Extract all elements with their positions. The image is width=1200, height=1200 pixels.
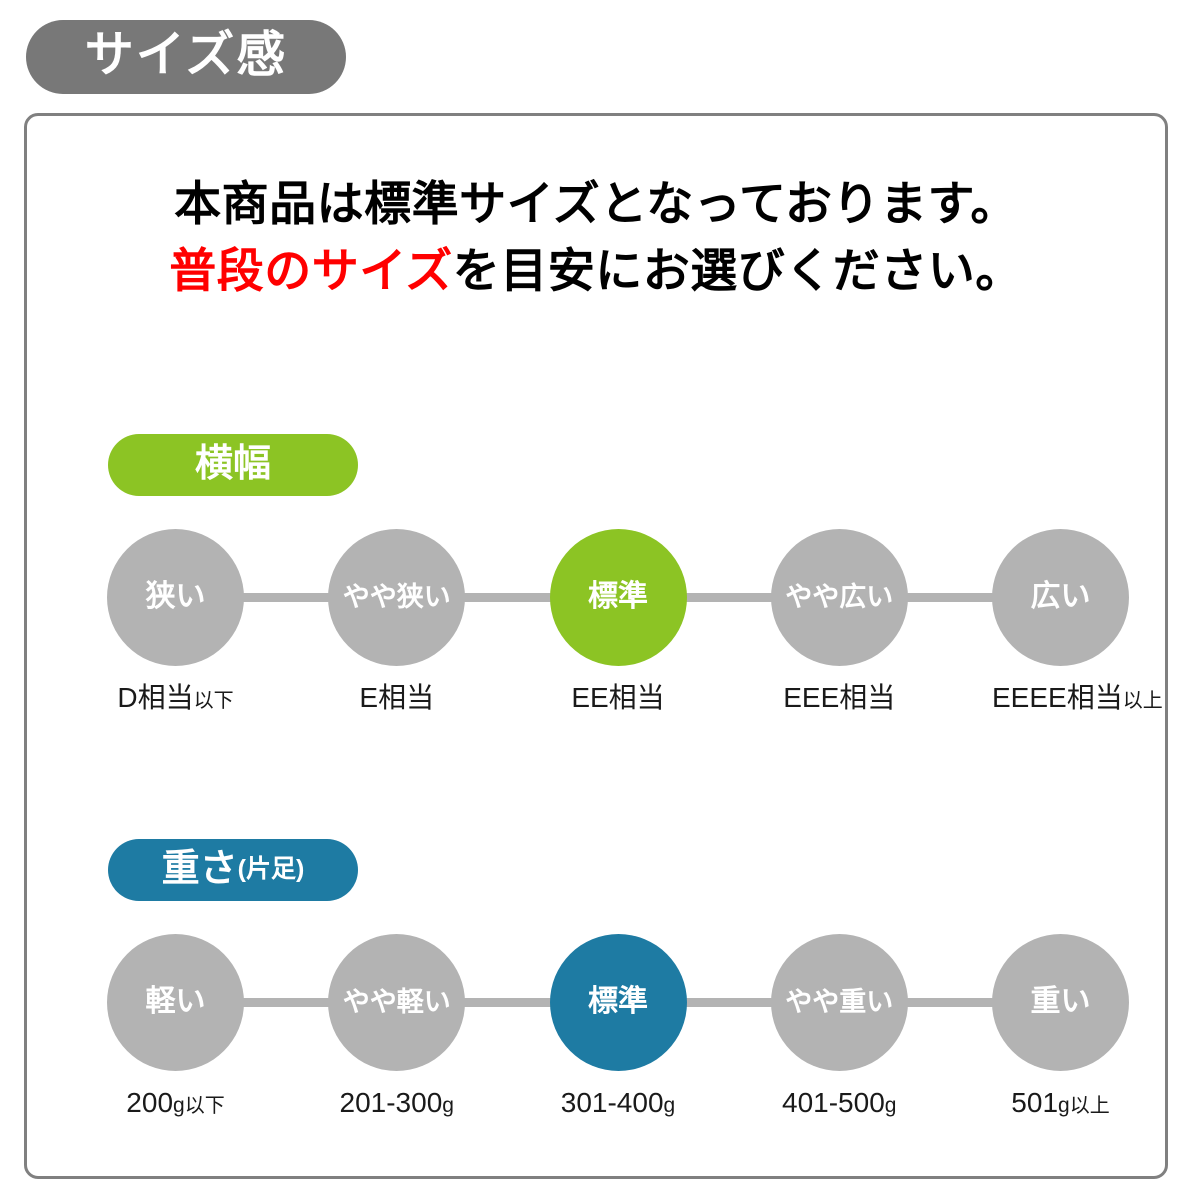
caption-width-0-sub: 以下 <box>194 690 234 712</box>
caption-weight-4-main: 501 <box>1011 1087 1058 1118</box>
scale-node-weight-2-label: 標準 <box>588 987 648 1017</box>
caption-weight-0: 200g以下 <box>107 1089 244 1117</box>
caption-weight-1: 201-300g <box>328 1089 465 1117</box>
scale-node-weight-4[interactable]: 重い <box>992 934 1129 1071</box>
caption-weight-2: 301-400g <box>550 1089 687 1117</box>
scale-node-weight-2[interactable]: 標準 <box>550 934 687 1071</box>
headline-block: 本商品は標準サイズとなっております。 普段のサイズを目安にお選びください。 <box>27 171 1165 304</box>
caption-weight-0-sub: 以下 <box>185 1095 225 1117</box>
section-pill-weight: 重さ(片足) <box>108 839 358 901</box>
scale-node-weight-0[interactable]: 軽い <box>107 934 244 1071</box>
caption-width-2-main: EE相当 <box>571 682 664 713</box>
caption-width-3-main: EEE相当 <box>783 682 895 713</box>
caption-width-4-sub: 以上 <box>1123 690 1163 712</box>
content-card: 本商品は標準サイズとなっております。 普段のサイズを目安にお選びください。 横幅… <box>24 113 1168 1179</box>
scale-node-width-0[interactable]: 狭い <box>107 529 244 666</box>
scale-node-width-3[interactable]: やや広い <box>771 529 908 666</box>
caption-width-1: E相当 <box>328 684 465 712</box>
scale-node-weight-0-label: 軽い <box>146 987 206 1017</box>
scale-weight: 軽い やや軽い 標準 やや重い 重い <box>107 932 1129 1072</box>
headline-line-1: 本商品は標準サイズとなっております。 <box>27 171 1165 238</box>
scale-node-width-3-label: やや広い <box>785 584 893 611</box>
caption-width-3: EEE相当 <box>771 684 908 712</box>
scale-node-width-2[interactable]: 標準 <box>550 529 687 666</box>
headline-rest: を目安にお選びください。 <box>453 244 1023 297</box>
caption-weight-1-main: 201-300 <box>340 1087 443 1118</box>
scale-node-weight-1[interactable]: やや軽い <box>328 934 465 1071</box>
caption-weight-4-unit: g <box>1058 1094 1070 1117</box>
sizing-infographic: サイズ感 本商品は標準サイズとなっております。 普段のサイズを目安にお選びくださ… <box>0 0 1200 1200</box>
headline-line-2: 普段のサイズを目安にお選びください。 <box>27 238 1165 305</box>
caption-weight-2-unit: g <box>664 1094 676 1117</box>
scale-node-width-2-label: 標準 <box>588 582 648 612</box>
caption-width-4-main: EEEE相当 <box>992 682 1123 713</box>
scale-node-width-1[interactable]: やや狭い <box>328 529 465 666</box>
headline-highlight: 普段のサイズ <box>169 244 453 297</box>
caption-width-1-main: E相当 <box>359 682 434 713</box>
header-badge-label: サイズ感 <box>85 31 288 83</box>
scale-node-width-1-label: やや狭い <box>343 584 451 611</box>
captions-width: D相当以下 E相当 EE相当 EEE相当 EEEE相当以上 <box>107 684 1129 712</box>
scale-nodes-weight: 軽い やや軽い 標準 やや重い 重い <box>107 932 1129 1072</box>
caption-weight-3: 401-500g <box>771 1089 908 1117</box>
caption-weight-4-sub: 以上 <box>1070 1095 1110 1117</box>
scale-node-weight-3[interactable]: やや重い <box>771 934 908 1071</box>
caption-weight-0-unit: g <box>173 1094 185 1117</box>
caption-weight-1-unit: g <box>442 1094 454 1117</box>
caption-width-2: EE相当 <box>550 684 687 712</box>
captions-weight: 200g以下 201-300g 301-400g 401-500g 501g以上 <box>107 1089 1129 1117</box>
scale-node-weight-4-label: 重い <box>1031 987 1091 1017</box>
caption-width-4: EEEE相当以上 <box>992 684 1129 712</box>
scale-node-width-4-label: 広い <box>1031 582 1091 612</box>
scale-node-weight-1-label: やや軽い <box>343 989 451 1016</box>
scale-node-weight-3-label: やや重い <box>785 989 893 1016</box>
caption-weight-3-main: 401-500 <box>782 1087 885 1118</box>
scale-node-width-4[interactable]: 広い <box>992 529 1129 666</box>
caption-width-0-main: D相当 <box>117 682 193 713</box>
section-pill-width-label: 横幅 <box>195 445 271 485</box>
scale-width: 狭い やや狭い 標準 やや広い 広い <box>107 527 1129 667</box>
section-pill-weight-label: 重さ <box>162 850 238 890</box>
section-pill-width: 横幅 <box>108 434 358 496</box>
caption-weight-3-unit: g <box>885 1094 897 1117</box>
caption-weight-2-main: 301-400 <box>561 1087 664 1118</box>
caption-width-0: D相当以下 <box>107 684 244 712</box>
caption-weight-0-main: 200 <box>126 1087 173 1118</box>
scale-nodes-width: 狭い やや狭い 標準 やや広い 広い <box>107 527 1129 667</box>
scale-node-width-0-label: 狭い <box>146 582 206 612</box>
header-badge: サイズ感 <box>26 20 346 94</box>
section-pill-weight-sub: (片足) <box>238 857 305 884</box>
caption-weight-4: 501g以上 <box>992 1089 1129 1117</box>
